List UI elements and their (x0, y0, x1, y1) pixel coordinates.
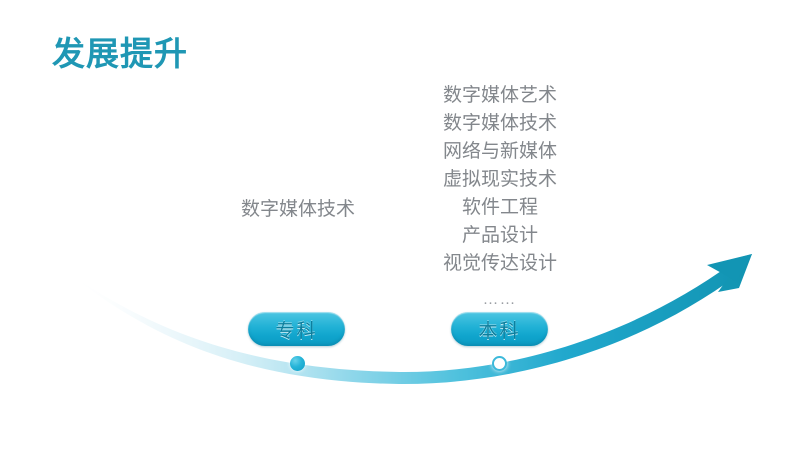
level-badge-label: 专科 (275, 316, 317, 343)
timeline-node-benke (492, 356, 507, 371)
arrow-head (709, 254, 752, 292)
level-badge-benke[interactable]: 本科 (451, 312, 548, 346)
timeline-node-zhuanke (290, 356, 305, 371)
level-badge-zhuanke[interactable]: 专科 (248, 312, 345, 346)
major-item: 虚拟现实技术 (400, 166, 600, 194)
major-item: 数字媒体艺术 (400, 82, 600, 110)
major-item: 视觉传达设计 (400, 250, 600, 278)
slide-canvas: 发展提升 数字媒体技术 数字媒体艺术 数字媒体技术 网络与新媒体 虚拟现实技术 … (0, 0, 800, 449)
arrow-head-fill (707, 254, 752, 281)
major-item: 网络与新媒体 (400, 138, 600, 166)
major-list-zhuanke: 数字媒体技术 (198, 196, 398, 224)
major-item: 数字媒体技术 (400, 110, 600, 138)
major-list-benke: 数字媒体艺术 数字媒体技术 网络与新媒体 虚拟现实技术 软件工程 产品设计 视觉… (400, 82, 600, 314)
page-title: 发展提升 (52, 34, 188, 74)
major-list-ellipsis: …… (400, 286, 600, 314)
major-item: 软件工程 (400, 194, 600, 222)
major-item: 数字媒体技术 (198, 196, 398, 224)
level-badge-label: 本科 (478, 316, 520, 343)
major-item: 产品设计 (400, 222, 600, 250)
